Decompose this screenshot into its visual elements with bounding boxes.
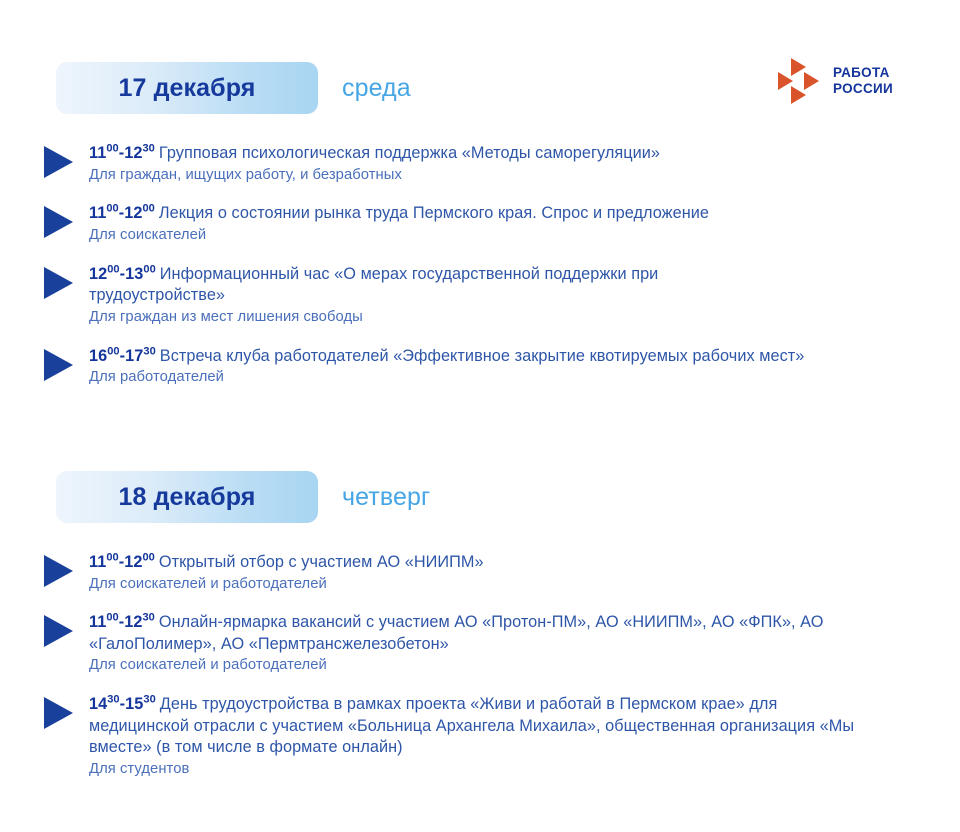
logo-wordmark-line2: РОССИИ [833,81,893,97]
event-list-0: 1100-1230Групповая психологическая подде… [44,143,804,406]
event-item: 1100-1230Онлайн-ярмарка вакансий с участ… [44,612,889,676]
date-pill-1: 18 декабря [56,471,318,523]
event-audience: Для соискателей и работодателей [89,575,484,595]
event-audience: Для студентов [89,760,879,780]
event-audience: Для соискателей и работодателей [89,656,889,676]
event-title: Информационный час «О мерах государствен… [89,265,658,305]
event-body: 1430-1530День трудоустройства в рамках п… [89,694,879,779]
event-main: 1100-1200Открытый отбор с участием АО «Н… [89,552,484,574]
event-body: 1100-1230Групповая психологическая подде… [89,143,660,185]
play-triangle-icon [44,146,73,178]
event-main: 1430-1530День трудоустройства в рамках п… [89,694,879,759]
date-label-0: 17 декабря [119,74,256,103]
event-main: 1100-1200Лекция о состоянии рынка труда … [89,203,709,225]
event-body: 1200-1300Информационный час «О мерах гос… [89,264,709,328]
event-audience: Для работодателей [89,368,804,388]
event-item: 1100-1200Открытый отбор с участием АО «Н… [44,552,889,594]
weekday-label-0: среда [342,74,411,103]
day-header-1: 18 декабря четверг [56,471,430,523]
event-time: 1100-1230 [89,144,155,162]
event-time: 1600-1730 [89,347,156,365]
event-time: 1200-1300 [89,265,156,283]
logo-wordmark-line1: РАБОТА [833,65,893,81]
logo-triangles-icon [778,58,824,104]
event-item: 1100-1230Групповая психологическая подде… [44,143,804,185]
event-audience: Для граждан, ищущих работу, и безработны… [89,166,660,186]
event-list-1: 1100-1200Открытый отбор с участием АО «Н… [44,552,889,798]
event-title: Встреча клуба работодателей «Эффективное… [160,347,805,365]
play-triangle-icon [44,349,73,381]
play-triangle-icon [44,555,73,587]
event-title: Лекция о состоянии рынка труда Пермского… [159,204,709,222]
event-body: 1100-1200Открытый отбор с участием АО «Н… [89,552,484,594]
event-time: 1100-1200 [89,553,155,571]
event-time: 1430-1530 [89,695,156,713]
weekday-label-1: четверг [342,483,430,512]
event-item: 1100-1200Лекция о состоянии рынка труда … [44,203,804,245]
event-main: 1200-1300Информационный час «О мерах гос… [89,264,709,307]
event-title: Онлайн-ярмарка вакансий с участием АО «П… [89,613,823,653]
event-item: 1430-1530День трудоустройства в рамках п… [44,694,889,779]
event-body: 1100-1230Онлайн-ярмарка вакансий с участ… [89,612,889,676]
event-main: 1100-1230Групповая психологическая подде… [89,143,660,165]
event-body: 1100-1200Лекция о состоянии рынка труда … [89,203,709,245]
event-time: 1100-1230 [89,613,155,631]
event-body: 1600-1730Встреча клуба работодателей «Эф… [89,346,804,388]
event-audience: Для граждан из мест лишения свободы [89,308,709,328]
event-time: 1100-1200 [89,204,155,222]
play-triangle-icon [44,267,73,299]
day-header-0: 17 декабря среда [56,62,411,114]
event-main: 1100-1230Онлайн-ярмарка вакансий с участ… [89,612,889,655]
event-title: День трудоустройства в рамках проекта «Ж… [89,695,854,756]
date-pill-0: 17 декабря [56,62,318,114]
date-label-1: 18 декабря [119,483,256,512]
event-title: Открытый отбор с участием АО «НИИПМ» [159,553,484,571]
schedule-poster: РАБОТА РОССИИ 17 декабря среда 1100-1230… [0,0,960,832]
logo-wordmark: РАБОТА РОССИИ [833,65,893,96]
play-triangle-icon [44,206,73,238]
event-item: 1600-1730Встреча клуба работодателей «Эф… [44,346,804,388]
event-main: 1600-1730Встреча клуба работодателей «Эф… [89,346,804,368]
logo-triangle-right-icon [804,72,819,90]
play-triangle-icon [44,615,73,647]
event-title: Групповая психологическая поддержка «Мет… [159,144,660,162]
play-triangle-icon [44,697,73,729]
event-audience: Для соискателей [89,226,709,246]
logo-triangle-bottom-icon [791,86,806,104]
rabota-rossii-logo: РАБОТА РОССИИ [778,58,893,104]
event-item: 1200-1300Информационный час «О мерах гос… [44,264,804,328]
